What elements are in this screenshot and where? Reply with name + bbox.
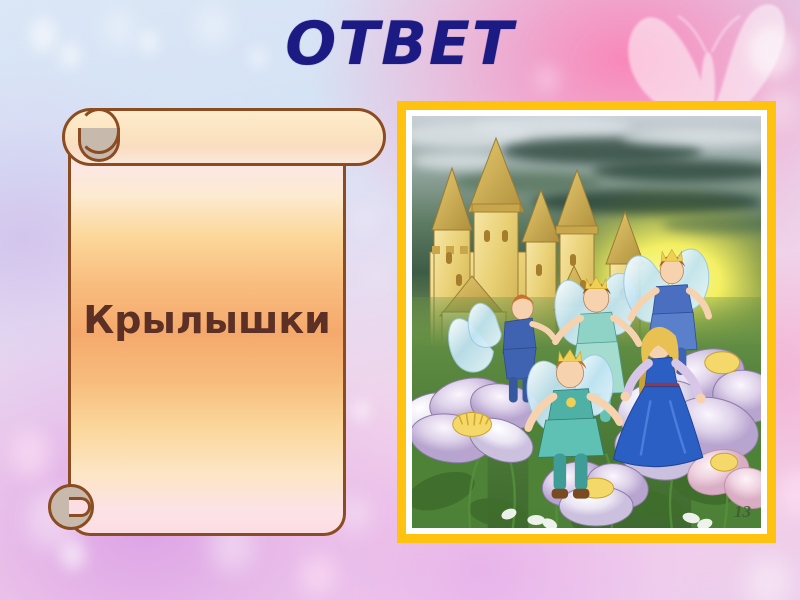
illustration-page-number: 13 bbox=[734, 502, 751, 522]
fairy-green-front bbox=[527, 349, 619, 498]
figures-layer bbox=[412, 116, 761, 528]
illustration-frame: 13 bbox=[397, 101, 776, 543]
slide-canvas: ОТВЕТ Крылышки bbox=[0, 0, 800, 600]
scroll-roll-curl-arc bbox=[78, 108, 120, 154]
page-title: ОТВЕТ bbox=[0, 14, 800, 74]
fairy-tale-illustration: 13 bbox=[412, 116, 761, 528]
answer-scroll: Крылышки bbox=[62, 102, 392, 542]
illustration-mat: 13 bbox=[406, 110, 767, 534]
scroll-bottom-curl-inner bbox=[69, 497, 91, 517]
answer-text: Крылышки bbox=[68, 298, 346, 342]
